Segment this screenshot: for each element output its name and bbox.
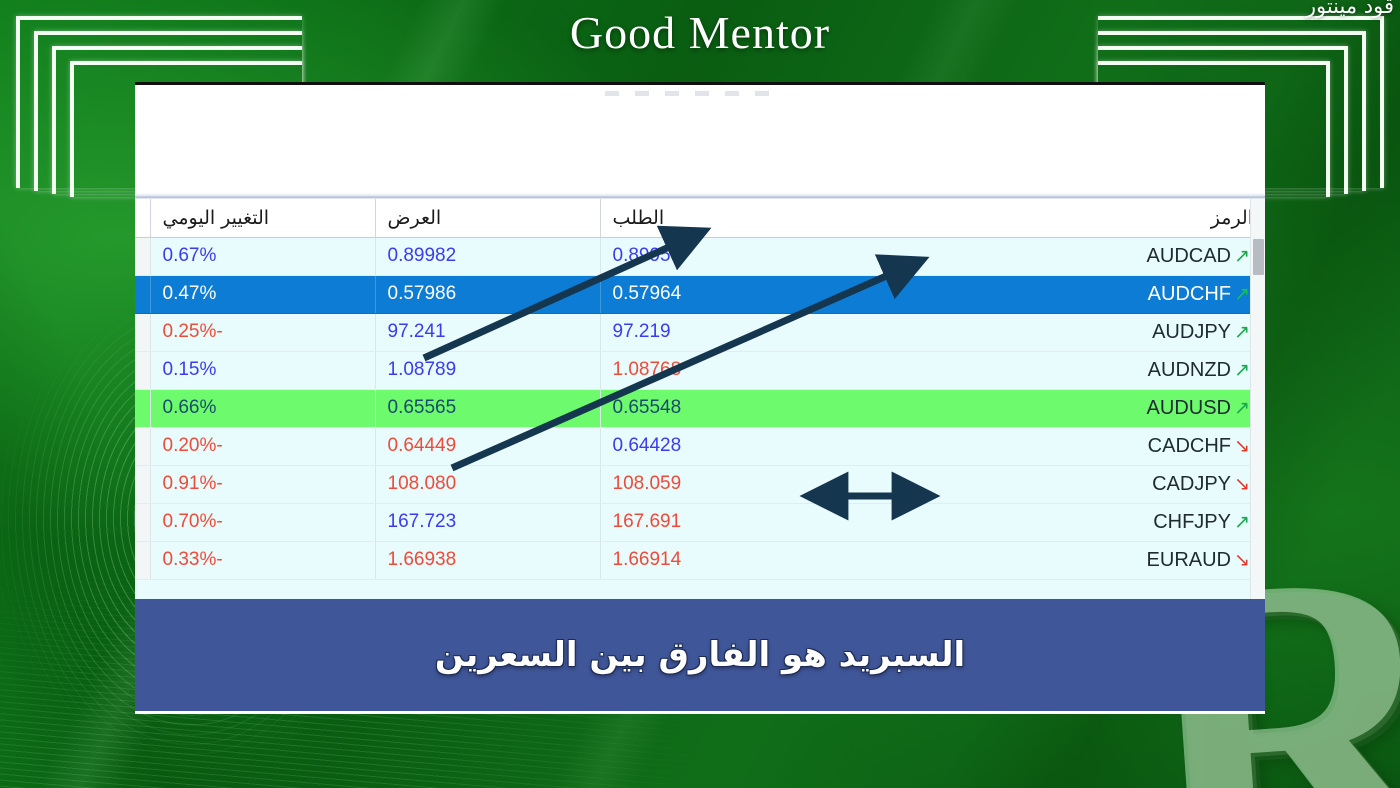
brand-logo: Good Mentor قود مينتور bbox=[0, 6, 1400, 59]
market-watch-window: الرمز الطلب العرض التغيير اليومي ↗AUDCAD… bbox=[135, 82, 1265, 714]
cell-bid[interactable]: 1.08768 bbox=[600, 351, 825, 389]
cell-change[interactable]: -0.70% bbox=[150, 503, 375, 541]
banner-text: السبريد هو الفارق بين السعرين bbox=[435, 635, 965, 675]
cell-ask[interactable]: 0.64449 bbox=[375, 427, 600, 465]
row-scrollbar-spacer bbox=[135, 427, 150, 465]
row-scrollbar-spacer bbox=[135, 351, 150, 389]
column-header-bid[interactable]: الطلب bbox=[600, 199, 825, 237]
symbol-label: AUDCAD bbox=[1147, 245, 1231, 267]
table-row[interactable]: ↗CHFJPY167.691167.723-0.70% bbox=[135, 503, 1265, 541]
cell-symbol[interactable]: ↘CADCHF bbox=[825, 427, 1265, 465]
cell-ask[interactable]: 108.080 bbox=[375, 465, 600, 503]
cell-symbol[interactable]: ↗AUDJPY bbox=[825, 313, 1265, 351]
table-row[interactable]: ↘CADCHF0.644280.64449-0.20% bbox=[135, 427, 1265, 465]
quotes-table: الرمز الطلب العرض التغيير اليومي ↗AUDCAD… bbox=[135, 199, 1265, 580]
vertical-scrollbar[interactable] bbox=[1250, 199, 1265, 599]
cell-ask[interactable]: 167.723 bbox=[375, 503, 600, 541]
cell-bid[interactable]: 0.65548 bbox=[600, 389, 825, 427]
quotes-table-body: ↗AUDCAD0.899570.899820.67%↗AUDCHF0.57964… bbox=[135, 237, 1265, 579]
row-scrollbar-spacer bbox=[135, 541, 150, 579]
cell-change[interactable]: 0.67% bbox=[150, 237, 375, 275]
cell-change[interactable]: -0.33% bbox=[150, 541, 375, 579]
symbol-label: CADJPY bbox=[1152, 473, 1231, 495]
cell-change[interactable]: -0.91% bbox=[150, 465, 375, 503]
symbol-label: CHFJPY bbox=[1153, 511, 1231, 533]
cell-ask[interactable]: 1.66938 bbox=[375, 541, 600, 579]
column-header-ask[interactable]: العرض bbox=[375, 199, 600, 237]
column-header-symbol[interactable]: الرمز bbox=[825, 199, 1265, 237]
table-row[interactable]: ↘CADJPY108.059108.080-0.91% bbox=[135, 465, 1265, 503]
cell-ask[interactable]: 1.08789 bbox=[375, 351, 600, 389]
cell-change[interactable]: 0.15% bbox=[150, 351, 375, 389]
row-scrollbar-spacer bbox=[135, 313, 150, 351]
faint-toolbar-remnant bbox=[605, 91, 785, 96]
symbol-label: AUDJPY bbox=[1152, 321, 1231, 343]
row-scrollbar-spacer bbox=[135, 237, 150, 275]
symbol-label: AUDNZD bbox=[1148, 359, 1231, 381]
brand-name-latin: Good Mentor bbox=[570, 6, 830, 59]
row-scrollbar-spacer bbox=[135, 275, 150, 313]
symbol-label: AUDCHF bbox=[1148, 283, 1231, 305]
cell-bid[interactable]: 0.64428 bbox=[600, 427, 825, 465]
cell-symbol[interactable]: ↗AUDNZD bbox=[825, 351, 1265, 389]
symbol-label: AUDUSD bbox=[1147, 397, 1231, 419]
cell-bid[interactable]: 167.691 bbox=[600, 503, 825, 541]
table-header-row: الرمز الطلب العرض التغيير اليومي bbox=[135, 199, 1265, 237]
cell-symbol[interactable]: ↘EURAUD bbox=[825, 541, 1265, 579]
upper-blank-panel bbox=[135, 85, 1265, 193]
cell-bid[interactable]: 0.57964 bbox=[600, 275, 825, 313]
cell-symbol[interactable]: ↗AUDCAD bbox=[825, 237, 1265, 275]
table-row[interactable]: ↗AUDCHF0.579640.579860.47% bbox=[135, 275, 1265, 313]
header-scrollbar-spacer bbox=[135, 199, 150, 237]
row-scrollbar-spacer bbox=[135, 503, 150, 541]
cell-symbol[interactable]: ↗AUDUSD bbox=[825, 389, 1265, 427]
cell-ask[interactable]: 0.57986 bbox=[375, 275, 600, 313]
cell-bid[interactable]: 97.219 bbox=[600, 313, 825, 351]
cell-change[interactable]: -0.25% bbox=[150, 313, 375, 351]
symbol-label: CADCHF bbox=[1148, 435, 1231, 457]
cell-bid[interactable]: 1.66914 bbox=[600, 541, 825, 579]
row-scrollbar-spacer bbox=[135, 465, 150, 503]
table-row[interactable]: ↗AUDCAD0.899570.899820.67% bbox=[135, 237, 1265, 275]
table-row[interactable]: ↘EURAUD1.669141.66938-0.33% bbox=[135, 541, 1265, 579]
table-row[interactable]: ↗AUDJPY97.21997.241-0.25% bbox=[135, 313, 1265, 351]
explanation-banner: السبريد هو الفارق بين السعرين bbox=[135, 599, 1265, 711]
cell-symbol[interactable]: ↘CADJPY bbox=[825, 465, 1265, 503]
scrollbar-thumb[interactable] bbox=[1253, 239, 1264, 275]
cell-change[interactable]: -0.20% bbox=[150, 427, 375, 465]
cell-bid[interactable]: 0.89957 bbox=[600, 237, 825, 275]
symbol-label: EURAUD bbox=[1147, 549, 1231, 571]
cell-symbol[interactable]: ↗AUDCHF bbox=[825, 275, 1265, 313]
table-row[interactable]: ↗AUDUSD0.655480.655650.66% bbox=[135, 389, 1265, 427]
cell-change[interactable]: 0.66% bbox=[150, 389, 375, 427]
table-row[interactable]: ↗AUDNZD1.087681.087890.15% bbox=[135, 351, 1265, 389]
cell-bid[interactable]: 108.059 bbox=[600, 465, 825, 503]
row-scrollbar-spacer bbox=[135, 389, 150, 427]
market-watch-grid[interactable]: الرمز الطلب العرض التغيير اليومي ↗AUDCAD… bbox=[135, 199, 1265, 599]
cell-symbol[interactable]: ↗CHFJPY bbox=[825, 503, 1265, 541]
slide-canvas: R Good Mentor قود مينتور الرمز الطلب bbox=[0, 0, 1400, 788]
cell-ask[interactable]: 97.241 bbox=[375, 313, 600, 351]
cell-ask[interactable]: 0.65565 bbox=[375, 389, 600, 427]
cell-change[interactable]: 0.47% bbox=[150, 275, 375, 313]
cell-ask[interactable]: 0.89982 bbox=[375, 237, 600, 275]
column-header-change[interactable]: التغيير اليومي bbox=[150, 199, 375, 237]
brand-name-arabic: قود مينتور bbox=[1306, 0, 1394, 18]
